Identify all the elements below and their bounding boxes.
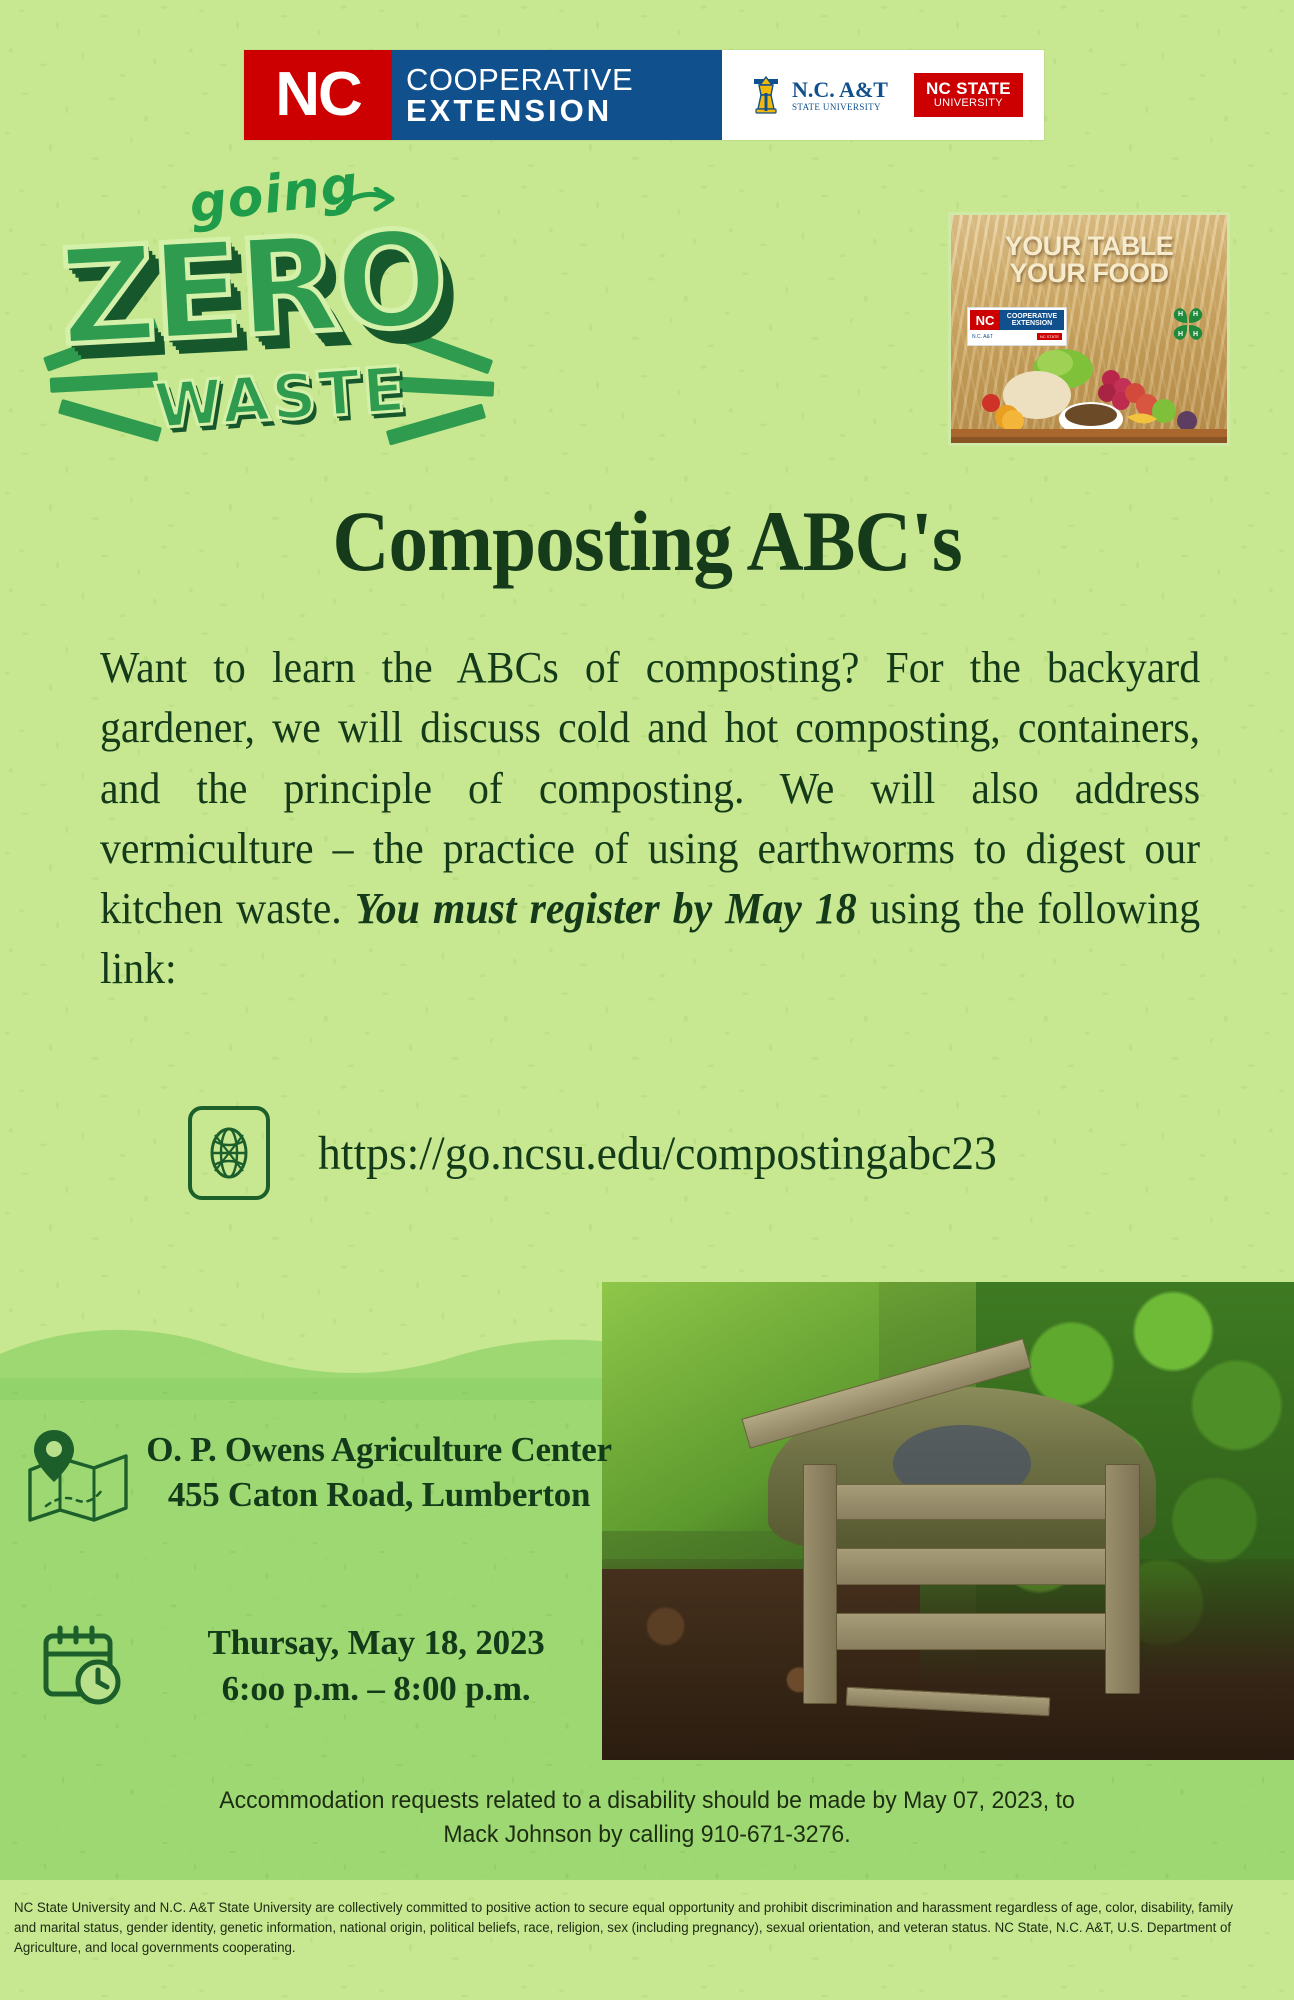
location-text: O. P. Owens Agriculture Center 455 Caton… — [144, 1428, 614, 1518]
registration-link-row[interactable]: https://go.ncsu.edu/compostingabc23 — [188, 1106, 1033, 1200]
description-paragraph: Want to learn the ABCs of composting? Fo… — [100, 638, 1200, 1000]
registration-url[interactable]: https://go.ncsu.edu/compostingabc23 — [318, 1126, 997, 1181]
globe-icon — [188, 1106, 270, 1200]
inset-coop-wordmark: COOPERATIVE EXTENSION — [1000, 310, 1064, 330]
date-line: Thursay, May 18, 2023 — [152, 1620, 600, 1666]
cooperative-extension-wordmark: COOPERATIVE EXTENSION — [392, 50, 722, 140]
datetime-block: Thursay, May 18, 2023 6:oo p.m. – 8:00 p… — [40, 1620, 600, 1712]
bin-plank-top — [817, 1484, 1136, 1521]
wooden-compost-bin — [796, 1464, 1156, 1713]
bin-post-left — [803, 1464, 837, 1705]
accommodation-line-2: Mack Johnson by calling 910-671-3276. — [141, 1818, 1153, 1852]
inset-coop-line-1: COOPERATIVE — [1007, 313, 1057, 320]
nc-at-wordmark: N.C. A&T STATE UNIVERSITY — [792, 79, 888, 112]
nc-at-line-2: STATE UNIVERSITY — [792, 103, 888, 112]
calendar-clock-icon — [40, 1624, 126, 1708]
nondiscrimination-disclaimer: NC State University and N.C. A&T State U… — [14, 1898, 1257, 1958]
coop-line-2: EXTENSION — [406, 95, 722, 126]
location-line-1: O. P. Owens Agriculture Center — [144, 1428, 614, 1473]
promo-title-line-1: YOUR TABLE — [951, 233, 1227, 260]
zero-wordmark-wrap: ZERO — [60, 223, 444, 355]
partner-logos: N.C. A&T STATE UNIVERSITY NC STATE UNIVE… — [722, 50, 1044, 140]
nc-at-line-1: N.C. A&T — [792, 79, 888, 101]
bin-post-right — [1105, 1464, 1139, 1695]
nc-state-line-1: NC STATE — [926, 80, 1011, 98]
bin-plank-middle — [817, 1548, 1136, 1585]
burst-ray — [58, 399, 162, 442]
time-line: 6:oo p.m. – 8:00 p.m. — [152, 1666, 600, 1712]
going-zero-waste-logo: going ZERO WASTE — [14, 165, 514, 465]
location-line-2: 455 Caton Road, Lumberton — [144, 1473, 614, 1518]
zero-wordmark: ZERO — [57, 213, 447, 365]
nc-at-logo: N.C. A&T STATE UNIVERSITY — [748, 73, 888, 117]
inset-coop-line-2: EXTENSION — [1012, 320, 1052, 327]
poster-canvas: NC COOPERATIVE EXTENSION N.C. — [0, 0, 1294, 2000]
food-display-photo — [951, 333, 1227, 443]
svg-text:H: H — [1193, 311, 1198, 318]
page-title: Composting ABC's — [52, 498, 1242, 584]
aggie-bell-icon — [748, 73, 784, 117]
promo-card-title: YOUR TABLE YOUR FOOD — [951, 233, 1227, 287]
compost-bin-photo — [602, 1282, 1294, 1760]
coop-line-1: COOPERATIVE — [406, 64, 722, 95]
your-table-your-food-card: YOUR TABLE YOUR FOOD NC COOPERATIVE EXTE… — [948, 212, 1230, 446]
nc-monogram: NC — [244, 50, 392, 140]
inset-nc-monogram: NC — [970, 310, 1000, 330]
accommodation-notice: Accommodation requests related to a disa… — [141, 1784, 1153, 1852]
accommodation-line-1: Accommodation requests related to a disa… — [141, 1784, 1153, 1818]
register-deadline-emphasis: You must register by May 18 — [355, 884, 857, 933]
datetime-text: Thursay, May 18, 2023 6:oo p.m. – 8:00 p… — [152, 1620, 600, 1712]
map-pin-icon — [24, 1424, 134, 1522]
location-block: O. P. Owens Agriculture Center 455 Caton… — [24, 1424, 614, 1522]
svg-text:H: H — [1178, 311, 1183, 318]
bin-plank-bottom — [817, 1613, 1136, 1650]
nc-state-university-logo: NC STATE UNIVERSITY — [914, 73, 1023, 117]
nc-state-line-2: UNIVERSITY — [926, 98, 1011, 110]
promo-title-line-2: YOUR FOOD — [951, 260, 1227, 287]
cooperative-extension-logo-bar: NC COOPERATIVE EXTENSION N.C. — [244, 50, 1044, 140]
